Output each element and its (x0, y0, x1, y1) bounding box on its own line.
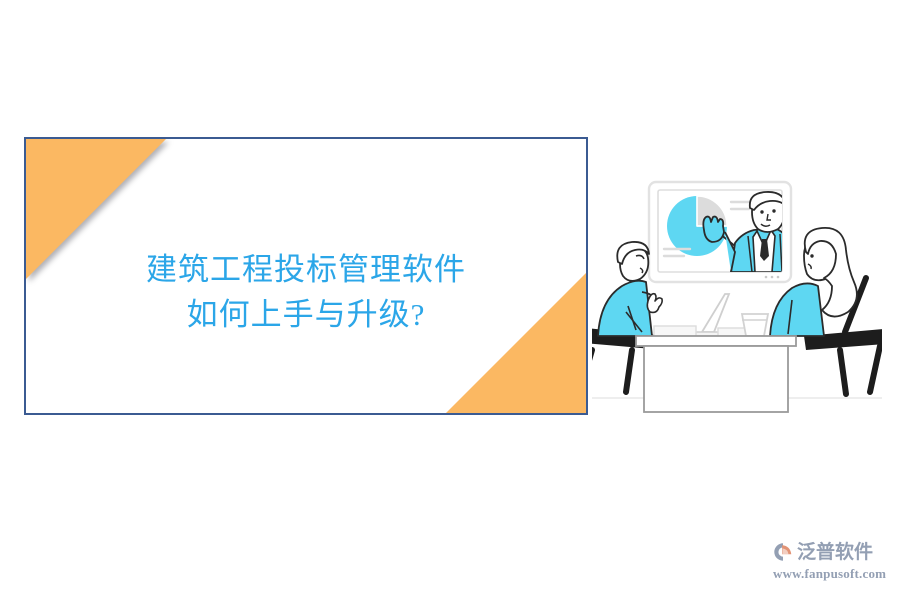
monitor-indicator-dots (765, 276, 780, 279)
fanpusoft-logo-icon (772, 541, 794, 563)
corner-wedge-bottom-right-icon (446, 273, 586, 413)
coffee-cup (742, 314, 768, 336)
meeting-illustration-svg (592, 160, 882, 422)
watermark: 泛普软件 www.fanpusoft.com (772, 533, 892, 587)
watermark-brand: 泛普软件 (797, 541, 873, 563)
title-card: 建筑工程投标管理软件 如何上手与升级? (24, 137, 588, 415)
page-canvas: 建筑工程投标管理软件 如何上手与升级? (0, 0, 900, 600)
corner-wedge-top-left-icon (26, 139, 166, 279)
watermark-url: www.fanpusoft.com (773, 566, 886, 582)
conference-table (636, 336, 796, 412)
wall-monitor (649, 182, 793, 282)
watermark-row: 泛普软件 (772, 539, 873, 565)
meeting-illustration (592, 160, 882, 422)
